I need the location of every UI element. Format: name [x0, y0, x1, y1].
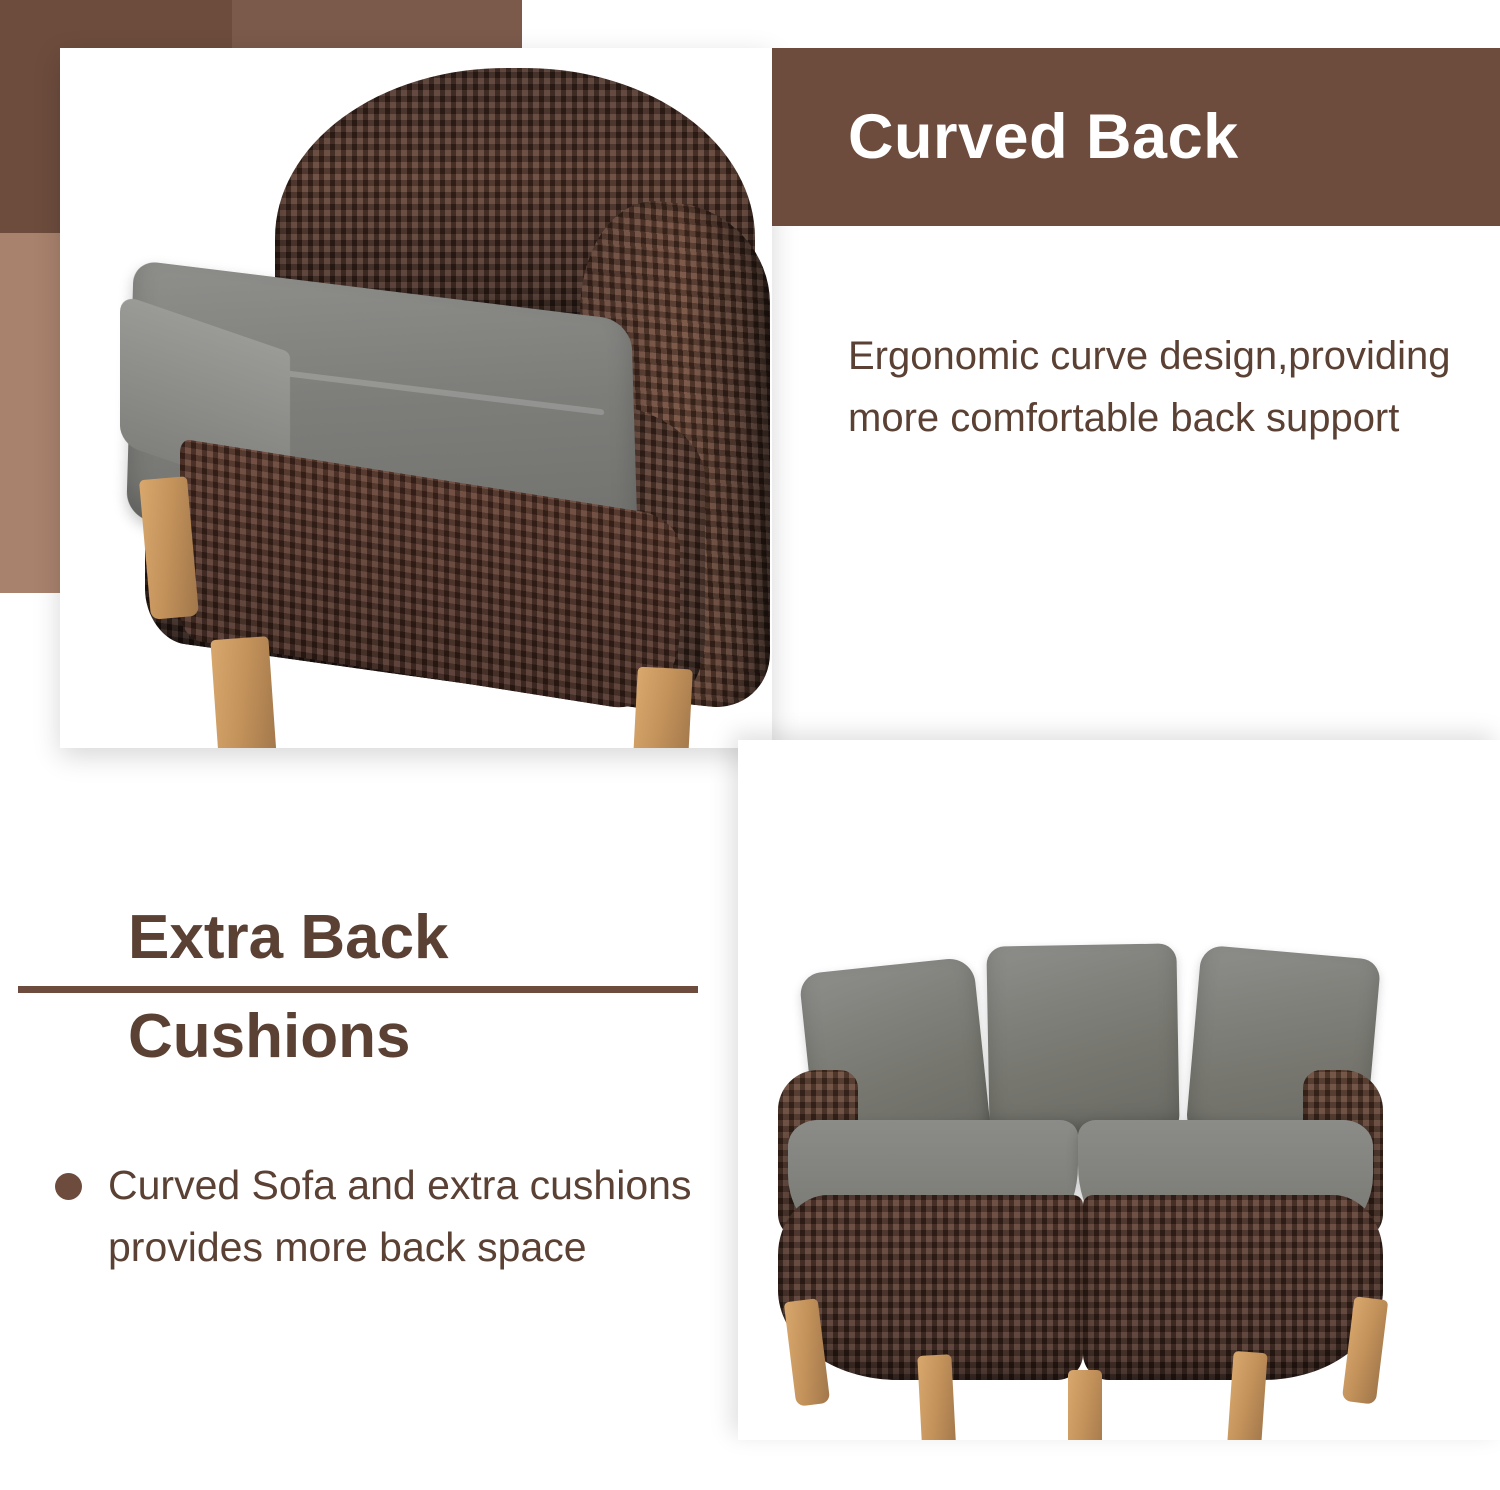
section-heading-line-1: Extra Back — [128, 905, 708, 972]
decor-block-dark — [0, 0, 232, 48]
chair-leg-back-right — [632, 667, 693, 748]
feature-description: Ergonomic curve design,providing more co… — [848, 325, 1458, 449]
sofa-leg-3 — [1068, 1370, 1102, 1440]
sofa-back-pillow-center — [986, 943, 1179, 1136]
section-heading-extra-back-cushions: Extra Back Cushions — [128, 905, 708, 1071]
sofa-illustration — [738, 740, 1500, 1440]
header-bar: Curved Back — [772, 48, 1500, 226]
decor-left-column-light — [0, 233, 60, 593]
sofa-leg-4 — [1226, 1351, 1267, 1440]
heading-divider — [18, 986, 698, 993]
decor-left-column-dark — [0, 48, 60, 233]
bullet-dot-icon — [55, 1173, 82, 1200]
bullet-text: Curved Sofa and extra cushions provides … — [108, 1155, 695, 1278]
product-photo-curved-sofa — [738, 740, 1500, 1440]
product-feature-page: Curved Back Ergonomic curve design,provi… — [0, 0, 1500, 1490]
chair-illustration — [60, 48, 772, 748]
chair-leg-front-right — [210, 636, 277, 748]
bullet-list-item: Curved Sofa and extra cushions provides … — [55, 1155, 695, 1278]
page-title: Curved Back — [848, 101, 1239, 173]
product-photo-curved-chair — [60, 48, 772, 748]
sofa-wicker-frame-right — [1083, 1195, 1383, 1380]
decor-block-tab — [232, 0, 522, 48]
section-heading-line-2: Cushions — [128, 1003, 708, 1071]
sofa-leg-2 — [917, 1354, 956, 1440]
